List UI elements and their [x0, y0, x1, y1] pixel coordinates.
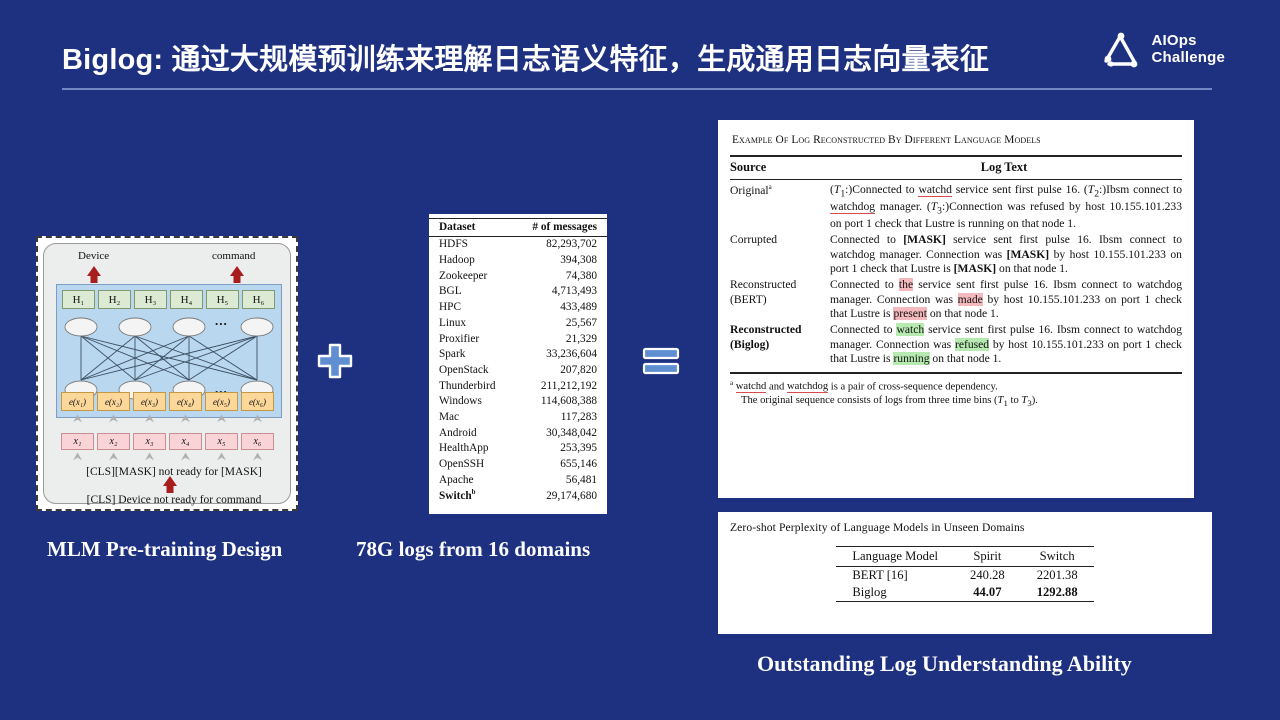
footnote-line-1: a watchd and watchdog is a pair of cross…	[730, 379, 1182, 394]
row-source-label: Corrupted	[730, 233, 830, 276]
table-row: Proxifier21,329	[429, 331, 607, 347]
table-row: Hadoop394,308	[429, 253, 607, 269]
biglog-token-watch: watch	[896, 323, 924, 336]
up-arrow-icon: ⮝	[205, 452, 238, 463]
perplexity-table-body: BERT [16] 240.28 2201.38 Biglog 44.07 12…	[836, 567, 1093, 602]
spirit-value: 44.07	[954, 584, 1021, 602]
dataset-name: Zookeeper	[429, 268, 513, 284]
table-header-row: Dataset # of messages	[429, 219, 607, 237]
dataset-name-text: Switch	[439, 490, 472, 502]
hidden-state-cell: H₁	[62, 290, 95, 309]
up-arrow-icon: ⮝	[205, 414, 238, 425]
caption-dataset: 78G logs from 16 domains	[356, 537, 590, 562]
row-log-text: Connected to [MASK] service sent first p…	[830, 233, 1182, 276]
dataset-count: 25,567	[513, 315, 607, 331]
table-row: OpenSSH655,146	[429, 457, 607, 473]
table-row: Switchb29,174,680	[429, 488, 607, 504]
token-row: x₁ x₂ x₃ x₄ x₅ x₆	[61, 433, 274, 450]
table-row: HealthApp253,395	[429, 441, 607, 457]
table-row-bert: Reconstructed(BERT) Connected to the ser…	[730, 277, 1182, 322]
hidden-state-cell: H₅	[206, 290, 239, 309]
column-header-dataset: Dataset	[429, 219, 513, 237]
token-watchd: watchd	[918, 183, 951, 197]
dataset-count: 82,293,702	[513, 237, 607, 253]
footnote-token-watchdog: watchdog	[787, 381, 828, 393]
dataset-table: Dataset # of messages HDFS82,293,702 Had…	[429, 218, 607, 504]
log-reconstruction-table-card: Example of Log Reconstructed by Differen…	[718, 120, 1194, 498]
recon-table-header: Source Log Text	[730, 157, 1182, 179]
perplexity-table-card: Zero-shot Perplexity of Language Models …	[718, 512, 1212, 634]
table-row: HDFS82,293,702	[429, 237, 607, 253]
token-cell: x₅	[205, 433, 238, 450]
footnote-marker: b	[472, 488, 476, 496]
dataset-count: 211,212,192	[513, 378, 607, 394]
table-row: BERT [16] 240.28 2201.38	[836, 567, 1093, 585]
row-source-label: Reconstructed(BERT)	[730, 278, 830, 321]
brand-line-1: AIOps	[1152, 32, 1225, 49]
up-arrow-icon: ⮝	[61, 452, 94, 463]
table-row: HPC433,489	[429, 300, 607, 316]
dataset-count: 655,146	[513, 457, 607, 473]
dataset-name: Windows	[429, 394, 513, 410]
dataset-count: 117,283	[513, 410, 607, 426]
table-row: BGL4,713,493	[429, 284, 607, 300]
masked-sentence: [CLS][MASK] not ready for [MASK]	[52, 466, 296, 478]
dataset-name: Linux	[429, 315, 513, 331]
table-row: Windows114,608,388	[429, 394, 607, 410]
footnote-marker: a	[769, 183, 772, 191]
mlm-pretraining-diagram: Device command H₁ H₂ H₃ H₄ H₅ H₆	[36, 236, 298, 511]
table-row: Mac117,283	[429, 410, 607, 426]
dataset-name: Proxifier	[429, 331, 513, 347]
dataset-name: HealthApp	[429, 441, 513, 457]
up-arrow-icon: ⮝	[241, 414, 274, 425]
dataset-name: Spark	[429, 347, 513, 363]
ppl-table-caption: Zero-shot Perplexity of Language Models …	[730, 521, 1202, 534]
up-arrow-icon: ⮝	[133, 452, 166, 463]
up-arrow-icon: ⮝	[97, 452, 130, 463]
brand-line-2: Challenge	[1152, 49, 1225, 66]
embedding-cell: e(x₆)	[241, 392, 274, 411]
up-arrow-icon: ⮝	[97, 414, 130, 425]
up-arrow-icon: ⮝	[61, 414, 94, 425]
switch-value: 1292.88	[1021, 584, 1094, 602]
dataset-count: 253,395	[513, 441, 607, 457]
dataset-table-body: HDFS82,293,702 Hadoop394,308 Zookeeper74…	[429, 237, 607, 505]
aiops-triangle-logo-icon	[1097, 26, 1143, 72]
embedding-cell: e(x₁)	[61, 392, 94, 411]
footnote-marker: a	[730, 379, 733, 387]
dataset-name: Hadoop	[429, 253, 513, 269]
slide-header: Biglog: 通过大规模预训练来理解日志语义特征，生成通用日志向量表征 AIO…	[0, 0, 1280, 100]
up-arrow-icon: ⮝	[169, 414, 202, 425]
caption-outcome: Outstanding Log Understanding Ability	[757, 651, 1132, 677]
dataset-name: HDFS	[429, 237, 513, 253]
dataset-count: 21,329	[513, 331, 607, 347]
footnote-line-2: The original sequence consists of logs f…	[730, 394, 1182, 410]
table-header-row: Language Model Spirit Switch	[836, 547, 1093, 567]
model-name: Biglog	[836, 584, 954, 602]
column-header-messages: # of messages	[513, 219, 607, 237]
hidden-state-cell: H₄	[170, 290, 203, 309]
column-header-switch: Switch	[1021, 547, 1094, 567]
table-row-biglog: Reconstructed(Biglog) Connected to watch…	[730, 322, 1182, 367]
embedding-cell: e(x₄)	[169, 392, 202, 411]
token-cell: x₁	[61, 433, 94, 450]
table-row: Biglog 44.07 1292.88	[836, 584, 1093, 602]
row-log-text: Connected to the service sent first puls…	[830, 278, 1182, 321]
table-row-original: Originala (T1:)Connected to watchd servi…	[730, 180, 1182, 233]
mask-token: [MASK]	[1007, 248, 1050, 261]
ellipsis-upper: ...	[215, 313, 228, 329]
embedding-row: e(x₁) e(x₂) e(x₃) e(x₄) e(x₅) e(x₆)	[61, 392, 274, 411]
table-row: Spark33,236,604	[429, 347, 607, 363]
dataset-count: 433,489	[513, 300, 607, 316]
perplexity-table: Language Model Spirit Switch BERT [16] 2…	[836, 546, 1093, 602]
hidden-state-cell: H₃	[134, 290, 167, 309]
row-log-text: Connected to watch service sent first pu…	[830, 323, 1182, 366]
dataset-name: OpenSSH	[429, 457, 513, 473]
dataset-count: 30,348,042	[513, 425, 607, 441]
bert-token-made: made	[958, 293, 983, 306]
hidden-state-row: H₁ H₂ H₃ H₄ H₅ H₆	[62, 290, 275, 309]
token-cell: x₂	[97, 433, 130, 450]
table-row-corrupted: Corrupted Connected to [MASK] service se…	[730, 232, 1182, 277]
hidden-state-cell: H₆	[242, 290, 275, 309]
table-row: Thunderbird211,212,192	[429, 378, 607, 394]
dataset-count: 4,713,493	[513, 284, 607, 300]
embedding-cell: e(x₃)	[133, 392, 166, 411]
dataset-name: Switchb	[429, 488, 513, 504]
token-cell: x₃	[133, 433, 166, 450]
up-arrow-icon: ⮝	[241, 452, 274, 463]
table-row: Android30,348,042	[429, 425, 607, 441]
row-source-text: Original	[730, 183, 769, 196]
up-arrow-icon: ⮝	[169, 452, 202, 463]
table-row: Linux25,567	[429, 315, 607, 331]
brand-text: AIOps Challenge	[1152, 32, 1225, 67]
token-cell: x₄	[169, 433, 202, 450]
biglog-token-refused: refused	[955, 338, 989, 351]
row-log-text: (T1:)Connected to watchd service sent fi…	[830, 183, 1182, 232]
table-row: Apache56,481	[429, 472, 607, 488]
dataset-count: 394,308	[513, 253, 607, 269]
column-header-logtext: Log Text	[826, 160, 1182, 175]
token-watchdog: watchdog	[830, 200, 875, 214]
column-header-spirit: Spirit	[954, 547, 1021, 567]
row-source-label: Originala	[730, 183, 830, 232]
dataset-name: Thunderbird	[429, 378, 513, 394]
table-row: OpenStack207,820	[429, 363, 607, 379]
dataset-count: 29,174,680	[513, 488, 607, 504]
row-source-label: Reconstructed(Biglog)	[730, 323, 830, 366]
token-cell: x₆	[241, 433, 274, 450]
recon-table-caption: Example of Log Reconstructed by Differen…	[732, 134, 1180, 146]
table-row: Zookeeper74,380	[429, 268, 607, 284]
dataset-count: 33,236,604	[513, 347, 607, 363]
model-name: BERT [16]	[836, 567, 954, 585]
dataset-name: HPC	[429, 300, 513, 316]
plus-operator-icon	[316, 342, 354, 385]
aiops-challenge-logo: AIOps Challenge	[1097, 26, 1225, 72]
mask-token: [MASK]	[903, 233, 946, 246]
mlm-diagram-inner: Device command H₁ H₂ H₃ H₄ H₅ H₆	[43, 243, 291, 504]
bert-token-the: the	[899, 278, 913, 291]
dataset-name: OpenStack	[429, 363, 513, 379]
dataset-count: 207,820	[513, 363, 607, 379]
dataset-count: 74,380	[513, 268, 607, 284]
dataset-count: 56,481	[513, 472, 607, 488]
page-title: Biglog: 通过大规模预训练来理解日志语义特征，生成通用日志向量表征	[62, 36, 989, 78]
dataset-statistics-table: Dataset # of messages HDFS82,293,702 Had…	[429, 214, 607, 514]
dataset-name: Mac	[429, 410, 513, 426]
embedding-cell: e(x₂)	[97, 392, 130, 411]
spirit-value: 240.28	[954, 567, 1021, 585]
column-header-source: Source	[730, 160, 826, 175]
footnote-token-watchd: watchd	[736, 381, 767, 393]
equals-operator-icon	[641, 345, 681, 382]
token-up-arrows: ⮝ ⮝ ⮝ ⮝ ⮝ ⮝	[61, 452, 274, 463]
recon-table-footnote: a watchd and watchdog is a pair of cross…	[730, 374, 1182, 410]
up-arrow-icon: ⮝	[133, 414, 166, 425]
biglog-token-running: running	[893, 352, 929, 365]
embedding-up-arrows: ⮝ ⮝ ⮝ ⮝ ⮝ ⮝	[61, 414, 274, 425]
embedding-cell: e(x₅)	[205, 392, 238, 411]
dataset-name: BGL	[429, 284, 513, 300]
dataset-count: 114,608,388	[513, 394, 607, 410]
column-header-model: Language Model	[836, 547, 954, 567]
dataset-name: Apache	[429, 472, 513, 488]
mask-token: [MASK]	[954, 262, 997, 275]
dataset-name: Android	[429, 425, 513, 441]
hidden-state-cell: H₂	[98, 290, 131, 309]
plain-sentence: [CLS] Device not ready for command	[52, 494, 296, 506]
title-divider	[62, 88, 1212, 90]
switch-value: 2201.38	[1021, 567, 1094, 585]
bert-token-present: present	[893, 307, 926, 320]
caption-mlm-design: MLM Pre-training Design	[47, 537, 282, 562]
